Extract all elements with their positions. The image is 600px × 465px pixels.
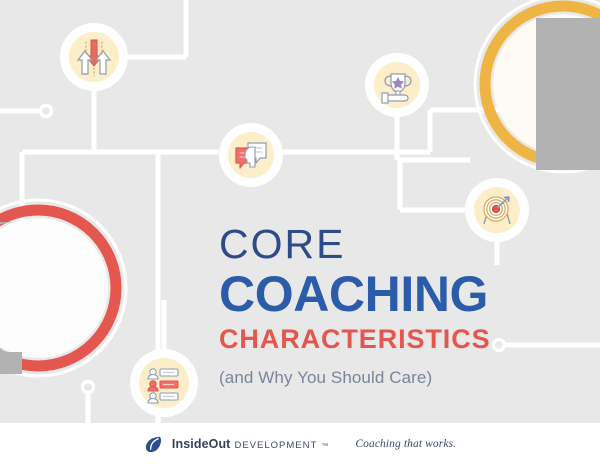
infographic-canvas: CORE COACHING CHARACTERISTICS (and Why Y…	[0, 0, 600, 465]
brand-lockup: InsideOut DEVELOPMENT ™ Coaching that wo…	[144, 435, 456, 454]
head-profile-gold	[470, 0, 600, 184]
node-speech-bubbles[interactable]	[219, 123, 283, 187]
node-arrows[interactable]	[60, 23, 128, 91]
node-trophy[interactable]	[365, 53, 429, 117]
brand-secondary: DEVELOPMENT	[234, 440, 317, 451]
node-people-list[interactable]	[130, 349, 198, 417]
insideout-leaf-logo-icon	[144, 435, 163, 454]
trophy-icon	[376, 64, 418, 106]
head-silhouette-icon	[536, 18, 600, 170]
brand-tagline: Coaching that works.	[355, 438, 456, 450]
speech-bubbles-icon	[229, 133, 273, 177]
footer-bar: InsideOut DEVELOPMENT ™ Coaching that wo…	[0, 423, 600, 465]
headline-subtitle: (and Why You Should Care)	[219, 367, 491, 389]
people-list-icon	[141, 360, 187, 406]
brand-primary: InsideOut	[172, 437, 231, 451]
head-profile-coral	[0, 188, 138, 388]
headline-line-coaching: COACHING	[219, 268, 491, 320]
converging-arrows-icon	[71, 34, 117, 80]
brand-name: InsideOut DEVELOPMENT ™	[172, 437, 328, 451]
headline-block: CORE COACHING CHARACTERISTICS (and Why Y…	[219, 222, 491, 389]
headline-line-core: CORE	[219, 222, 491, 266]
headline-line-characteristics: CHARACTERISTICS	[219, 324, 491, 354]
trademark-symbol: ™	[321, 443, 328, 450]
